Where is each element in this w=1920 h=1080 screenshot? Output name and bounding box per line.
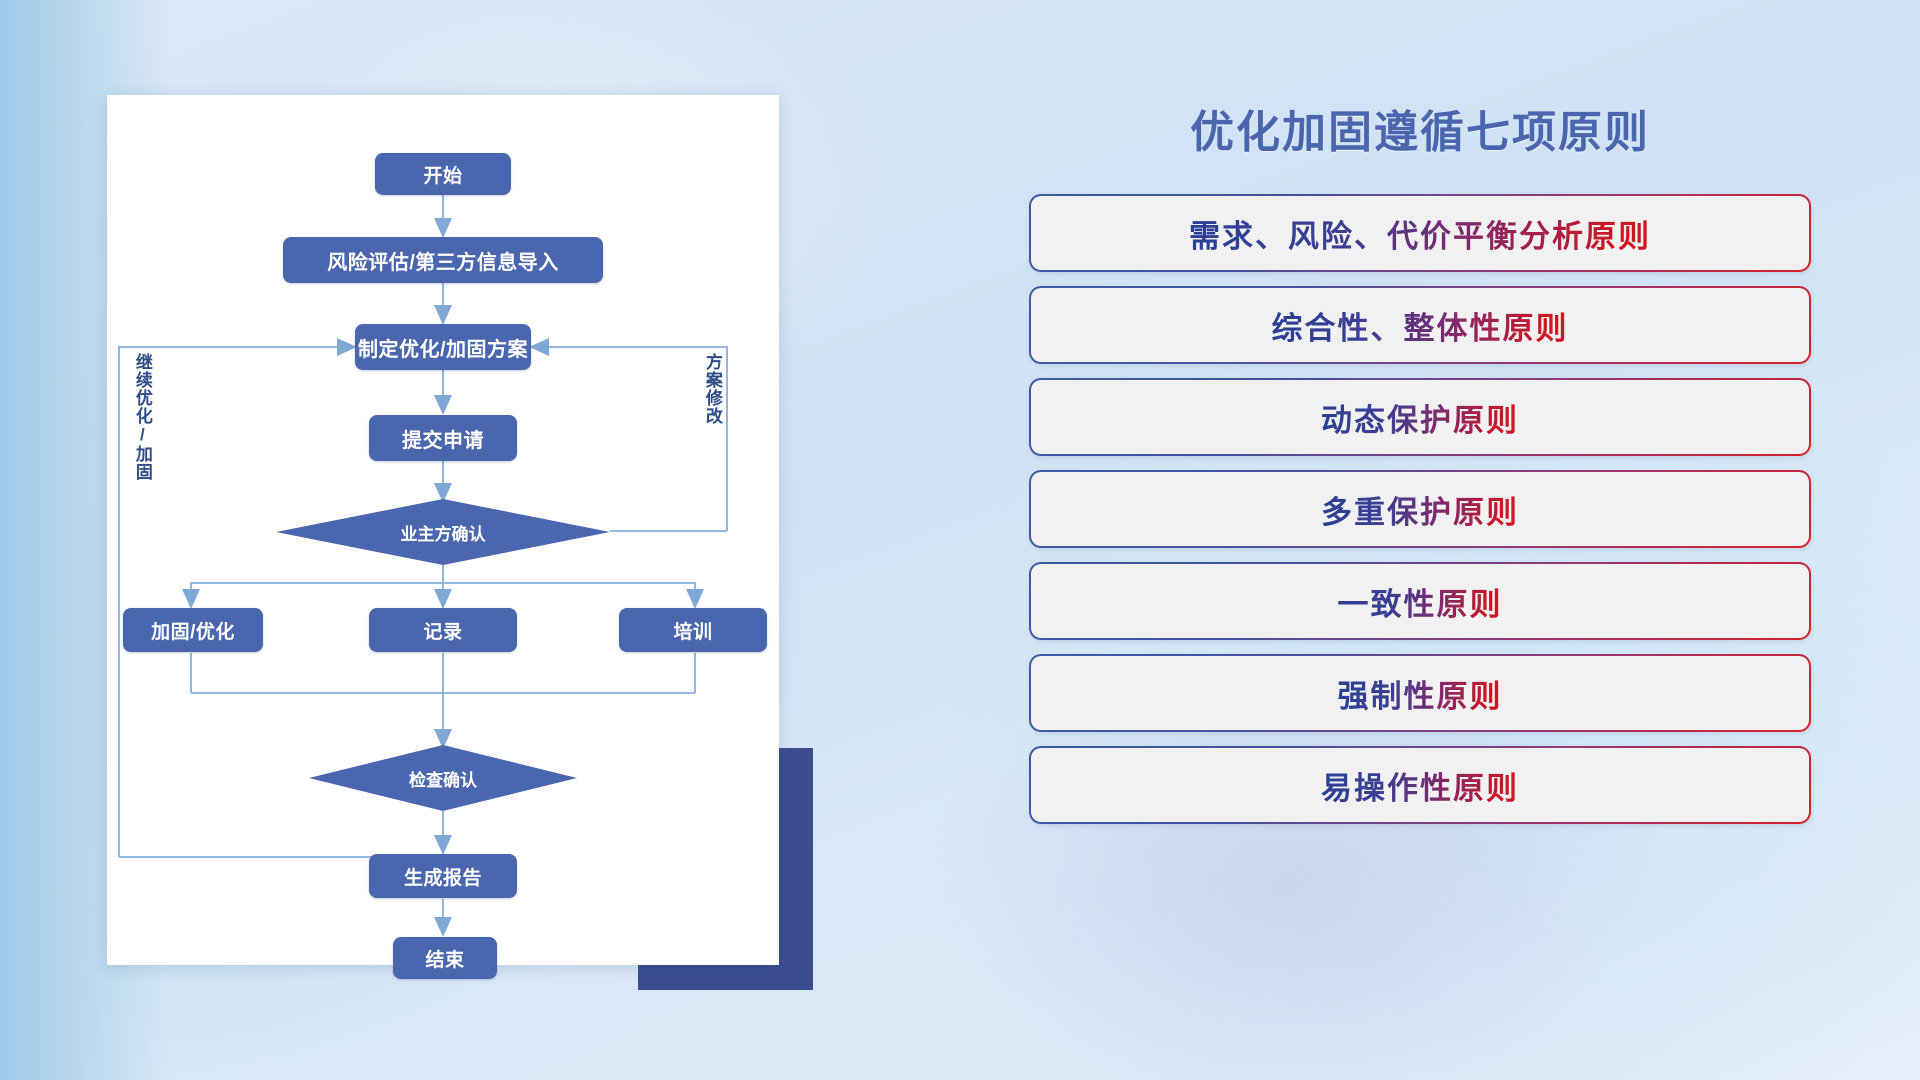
principles-panel: 优化加固遵循七项原则 需求、风险、代价平衡分析原则 综合性、整体性原则 动态保护… [1010,96,1830,996]
node-owner-confirm-label: 业主方确认 [401,520,486,545]
node-generate-report[interactable]: 生成报告 [369,854,517,898]
principle-card[interactable]: 综合性、整体性原则 [1029,286,1811,364]
node-start-label: 开始 [423,161,462,188]
principle-label: 强制性原则 [1338,671,1503,716]
node-make-plan[interactable]: 制定优化/加固方案 [355,324,531,370]
node-reinforce-optimize[interactable]: 加固/优化 [123,608,263,652]
node-end-label: 结束 [425,945,464,972]
node-record[interactable]: 记录 [369,608,517,652]
node-risk-assessment[interactable]: 风险评估/第三方信息导入 [283,237,603,283]
principle-card[interactable]: 动态保护原则 [1029,378,1811,456]
principle-label: 需求、风险、代价平衡分析原则 [1189,211,1651,256]
node-end[interactable]: 结束 [393,937,497,979]
principle-label: 动态保护原则 [1321,395,1519,440]
flowchart-card: 开始 风险评估/第三方信息导入 制定优化/加固方案 提交申请 业主方确认 加固/… [107,95,779,965]
principle-card[interactable]: 多重保护原则 [1029,470,1811,548]
slide-canvas: 开始 风险评估/第三方信息导入 制定优化/加固方案 提交申请 业主方确认 加固/… [0,0,1920,1080]
principle-label: 多重保护原则 [1321,487,1519,532]
principle-card[interactable]: 强制性原则 [1029,654,1811,732]
node-reinforce-optimize-label: 加固/优化 [151,617,235,644]
node-risk-assessment-label: 风险评估/第三方信息导入 [327,246,559,275]
edge-label-right-loop: 方案修改 [703,353,721,483]
edge-label-right-loop-text: 方案修改 [703,353,722,425]
principle-card[interactable]: 易操作性原则 [1029,746,1811,824]
node-training-label: 培训 [673,617,712,644]
node-check-confirm-label: 检查确认 [409,766,477,791]
node-submit-application[interactable]: 提交申请 [369,415,517,461]
principle-label: 综合性、整体性原则 [1272,303,1569,348]
node-submit-application-label: 提交申请 [402,424,484,453]
node-training[interactable]: 培训 [619,608,767,652]
principle-card[interactable]: 一致性原则 [1029,562,1811,640]
principle-card[interactable]: 需求、风险、代价平衡分析原则 [1029,194,1811,272]
principle-label: 易操作性原则 [1321,763,1519,808]
node-record-label: 记录 [423,617,462,644]
node-owner-confirm[interactable]: 业主方确认 [276,499,610,565]
node-make-plan-label: 制定优化/加固方案 [358,333,528,362]
node-start[interactable]: 开始 [375,153,511,195]
edge-label-left-loop: 继续优化/加固 [133,353,151,533]
node-generate-report-label: 生成报告 [404,863,482,890]
principle-label: 一致性原则 [1338,579,1503,624]
node-check-confirm[interactable]: 检查确认 [309,745,577,811]
flowchart-canvas: 开始 风险评估/第三方信息导入 制定优化/加固方案 提交申请 业主方确认 加固/… [107,95,779,965]
edge-label-left-loop-text: 继续优化/加固 [133,353,152,481]
panel-title: 优化加固遵循七项原则 [1010,96,1830,160]
